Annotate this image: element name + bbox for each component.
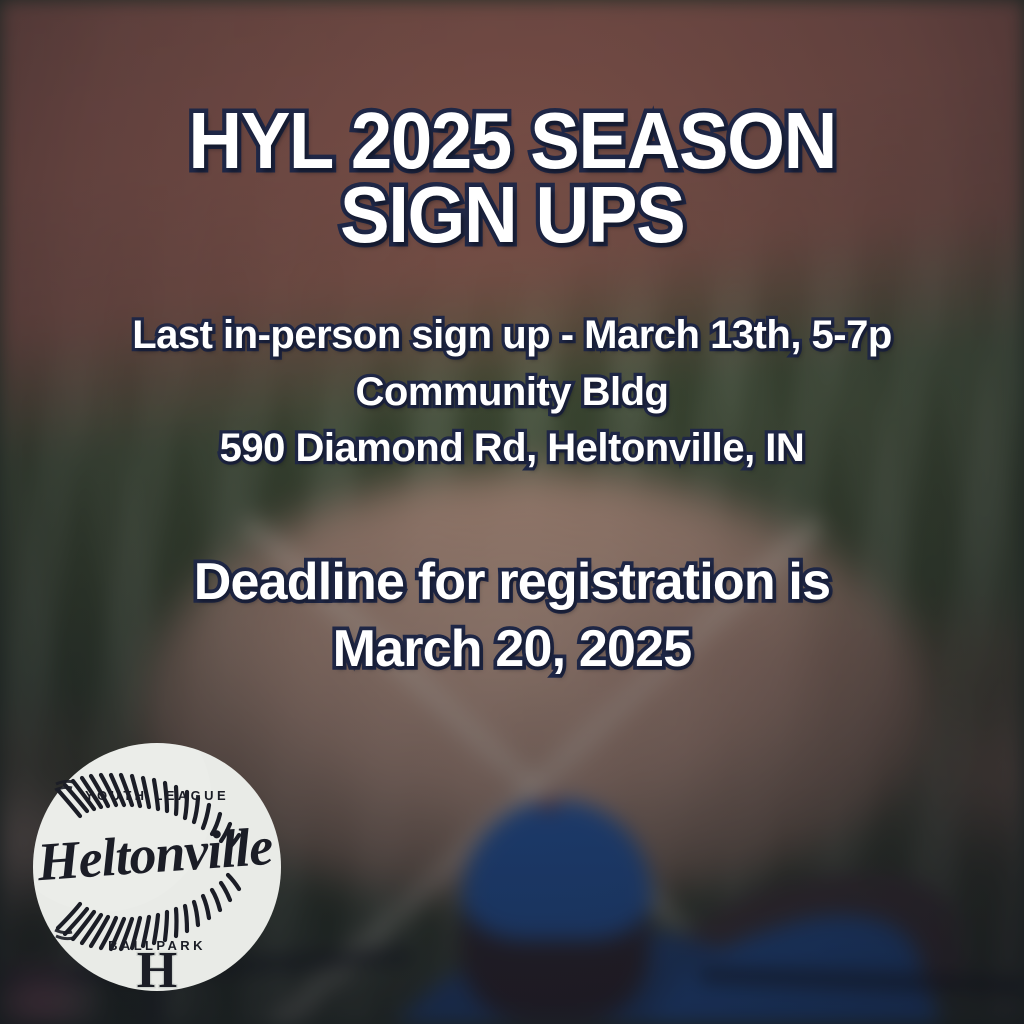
- logo-monogram-letter: H: [137, 942, 177, 992]
- logo-top-text: YOUTH LEAGUE: [85, 788, 229, 803]
- heltonville-youth-league-logo: YOUTH LEAGUE Heltonville BALLPARK H: [32, 742, 282, 992]
- logo-monogram: H: [137, 942, 177, 992]
- poster-canvas: HYL 2025 SEASON SIGN UPS Last in-person …: [0, 0, 1024, 1024]
- event-details: Last in-person sign up - March 13th, 5-7…: [132, 253, 892, 477]
- registration-deadline: Deadline for registration is March 20, 2…: [194, 477, 830, 682]
- page-title: HYL 2025 SEASON SIGN UPS: [188, 0, 836, 253]
